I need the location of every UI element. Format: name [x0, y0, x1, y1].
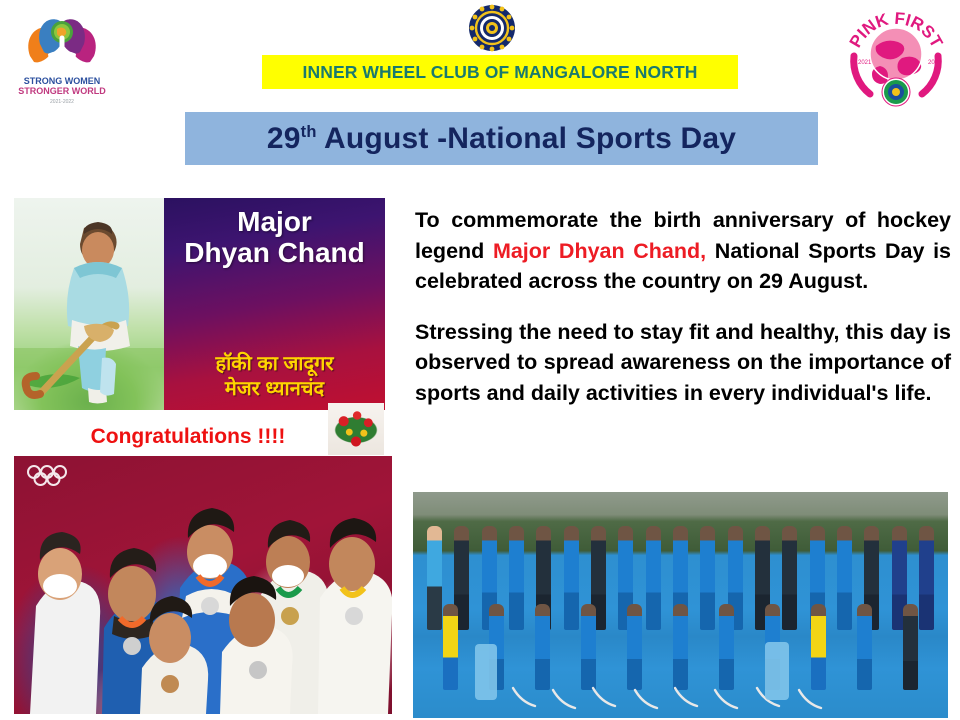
strong-women-stronger-world-logo: STRONG WOMEN STRONGER WORLD 2021-2022 [10, 4, 114, 108]
pink-first-logo: PINK FIRST 2021 2022 [840, 2, 952, 112]
olympic-medalists-collage [14, 456, 392, 714]
logo-line1: STRONG WOMEN [24, 76, 101, 86]
club-name-band: INNER WHEEL CLUB OF MANGALORE NORTH [262, 55, 738, 89]
flower-bouquet-image [328, 403, 384, 455]
paragraph-1: To commemorate the birth anniversary of … [415, 205, 951, 297]
inner-wheel-emblem [468, 3, 516, 53]
congratulations-banner: Congratulations !!!! [58, 420, 318, 454]
congratulations-text: Congratulations !!!! [91, 425, 286, 449]
poster-name-line1: Major [164, 206, 385, 237]
club-name-text: INNER WHEEL CLUB OF MANGALORE NORTH [303, 62, 698, 83]
logo-year: 2021-2022 [50, 99, 74, 105]
event-title-rest: August -National Sports Day [317, 122, 737, 155]
poster-name-text: Major Dhyan Chand [164, 206, 385, 269]
event-title-text: 29th August -National Sports Day [267, 122, 736, 156]
olympic-rings-icon [26, 464, 68, 486]
poster-name-line2: Dhyan Chand [164, 237, 385, 268]
poster-hindi-text: हॉकी का जादूगर मेजर ध्यानचंद [164, 352, 385, 402]
event-title-band: 29th August -National Sports Day [185, 112, 818, 165]
pink-first-left-year: 2021 [858, 60, 872, 66]
poster-hindi-line1: हॉकी का जादूगर [164, 352, 385, 377]
event-day-ordinal: th [301, 123, 317, 141]
event-day-number: 29 [267, 122, 301, 155]
dhyan-chand-poster: Major Dhyan Chand हॉकी का जादूगर मेजर ध्… [164, 198, 385, 410]
dhyan-chand-watercolour [14, 198, 164, 410]
poster-hindi-line2: मेजर ध्यानचंद [164, 377, 385, 402]
article-text: To commemorate the birth anniversary of … [415, 205, 951, 408]
pink-first-right-year: 2022 [928, 60, 942, 66]
poster-page: STRONG WOMEN STRONGER WORLD 2021-2022 [0, 0, 960, 720]
indian-womens-hockey-team-photo [413, 492, 948, 718]
logo-line2: STRONGER WORLD [18, 86, 106, 96]
major-dhyan-chand-highlight: Major Dhyan Chand, [493, 239, 706, 263]
paragraph-2: Stressing the need to stay fit and healt… [415, 317, 951, 409]
